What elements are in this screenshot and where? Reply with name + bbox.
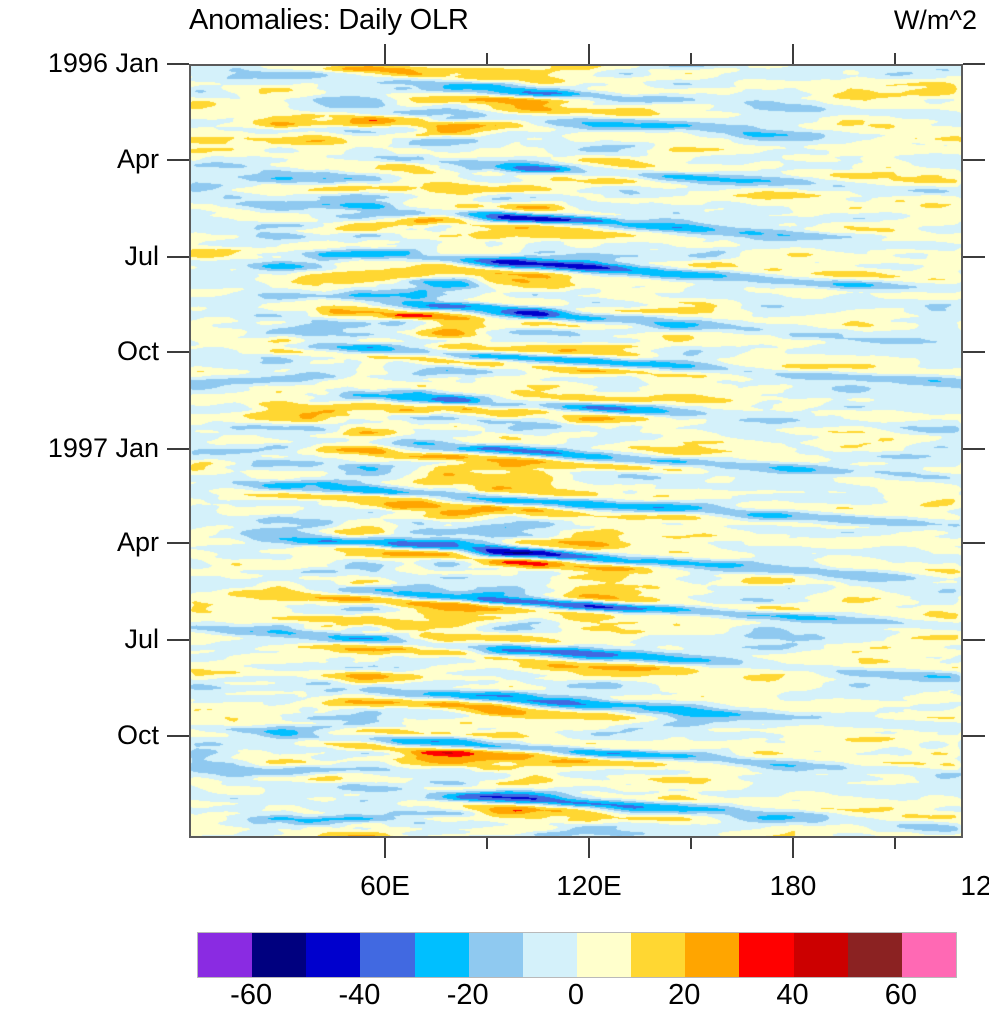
x-axis-label-2: 180 xyxy=(703,872,883,900)
x-tick-major-top-1 xyxy=(588,44,590,64)
x-tick-major-bottom-0 xyxy=(384,838,386,858)
y-tick-left-3 xyxy=(167,351,189,353)
y-axis-label-7: Oct xyxy=(0,722,159,749)
y-axis-label-5: Apr xyxy=(0,529,159,556)
y-tick-left-7 xyxy=(167,735,189,737)
x-tick-major-top-2 xyxy=(792,44,794,64)
x-axis-label-0: 60E xyxy=(295,872,475,900)
contour-fill-canvas xyxy=(189,64,963,838)
units-label: W/m^2 xyxy=(894,4,977,36)
y-axis-label-1: Apr xyxy=(0,146,159,173)
colorbar-label-6: 60 xyxy=(821,980,981,1010)
x-tick-minor-top-1 xyxy=(690,53,692,64)
colorbar-swatch-4 xyxy=(415,933,469,977)
colorbar-swatch-12 xyxy=(848,933,902,977)
y-tick-left-0 xyxy=(167,63,189,65)
colorbar-swatch-6 xyxy=(523,933,577,977)
y-tick-right-5 xyxy=(963,542,985,544)
y-tick-left-6 xyxy=(167,639,189,641)
y-axis-label-6: Jul xyxy=(0,626,159,653)
colorbar-swatch-7 xyxy=(577,933,631,977)
colorbar-swatch-1 xyxy=(252,933,306,977)
x-tick-minor-top-2 xyxy=(894,53,896,64)
x-tick-minor-top-0 xyxy=(486,53,488,64)
x-tick-minor-bottom-0 xyxy=(486,838,488,849)
colorbar-swatch-0 xyxy=(198,933,252,977)
y-tick-right-7 xyxy=(963,735,985,737)
y-tick-right-6 xyxy=(963,639,985,641)
x-tick-major-bottom-2 xyxy=(792,838,794,858)
page-title: Anomalies: Daily OLR xyxy=(189,4,749,36)
y-axis-label-0: 1996 Jan xyxy=(0,50,159,77)
y-tick-left-2 xyxy=(167,256,189,258)
colorbar-swatch-10 xyxy=(739,933,793,977)
y-tick-right-0 xyxy=(963,63,985,65)
x-axis-label-3: 120W xyxy=(907,872,989,900)
x-tick-major-top-0 xyxy=(384,44,386,64)
colorbar-swatch-13 xyxy=(902,933,956,977)
colorbar-swatch-3 xyxy=(360,933,414,977)
colorbar-swatch-11 xyxy=(794,933,848,977)
y-tick-right-3 xyxy=(963,351,985,353)
y-tick-left-5 xyxy=(167,542,189,544)
colorbar-swatch-5 xyxy=(469,933,523,977)
y-axis-label-4: 1997 Jan xyxy=(0,435,159,462)
x-tick-minor-bottom-1 xyxy=(690,838,692,849)
plot-area xyxy=(189,64,963,838)
colorbar-swatch-2 xyxy=(306,933,360,977)
x-axis-label-1: 120E xyxy=(499,872,679,900)
y-axis-label-3: Oct xyxy=(0,338,159,365)
x-tick-major-bottom-1 xyxy=(588,838,590,858)
y-tick-right-1 xyxy=(963,159,985,161)
olr-hovmoller-figure: Anomalies: Daily OLR W/m^2 1996 JanAprJu… xyxy=(0,0,989,1016)
y-axis-label-2: Jul xyxy=(0,243,159,270)
y-tick-left-4 xyxy=(167,448,189,450)
colorbar-swatch-9 xyxy=(685,933,739,977)
x-tick-minor-bottom-2 xyxy=(894,838,896,849)
colorbar xyxy=(197,932,957,978)
y-tick-right-4 xyxy=(963,448,985,450)
y-tick-right-2 xyxy=(963,256,985,258)
y-tick-left-1 xyxy=(167,159,189,161)
colorbar-swatch-8 xyxy=(631,933,685,977)
